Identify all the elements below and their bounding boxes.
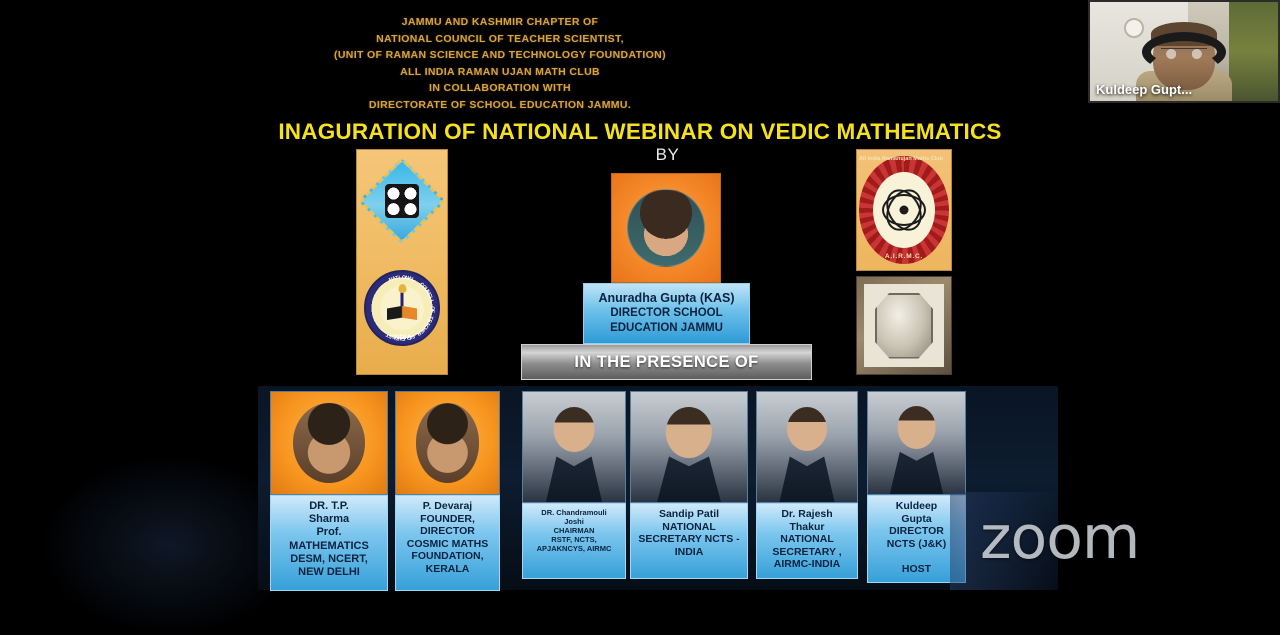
panelist-caption-line: DR. Chandramouli: [526, 508, 622, 517]
panelist-card-tp-sharma: DR. T.P.SharmaProf.MATHEMATICSDESM, NCER…: [270, 391, 388, 591]
chief-guest-photo: [611, 173, 721, 283]
panelist-card-rajesh-thakur: Dr. RajeshThakurNATIONALSECRETARY ,AIRMC…: [756, 391, 858, 579]
panelist-caption-sandip-patil: Sandip PatilNATIONALSECRETARY NCTS -INDI…: [630, 503, 748, 579]
panelist-portrait-p-devaraj: [416, 403, 480, 483]
panelist-caption-line: DR. T.P.: [274, 500, 384, 513]
panelist-caption-line: Thakur: [760, 521, 854, 534]
panelist-caption-line: DIRECTOR: [871, 525, 962, 538]
video-background-plant: [1229, 2, 1278, 101]
wall-clock-icon: [1124, 18, 1144, 38]
ncts-seal-icon: INDIA NATIONAL COUNCIL OF TEACHER SCIENT…: [364, 270, 440, 346]
panelist-caption-line: HOST: [871, 563, 962, 576]
panelist-caption-line: DIRECTOR: [399, 525, 496, 538]
header-line-1: JAMMU AND KASHMIR CHAPTER OF: [0, 14, 1000, 31]
panelist-caption-line: NATIONAL: [634, 521, 744, 534]
panelist-caption-line: NEW DELHI: [274, 566, 384, 579]
eyeglasses-icon: [1161, 48, 1207, 59]
panelist-caption-kuldeep-gupta: KuldeepGuptaDIRECTORNCTS (J&K) HOST: [867, 495, 966, 583]
panelist-caption-line: Kuldeep: [871, 500, 962, 513]
chief-guest-role-line-1: DIRECTOR SCHOOL: [590, 306, 743, 321]
seal-ring-text: NATIONAL COUNCIL OF TEACHER SCIENTIST: [366, 272, 438, 344]
panelist-caption-line: Joshi: [526, 517, 622, 526]
panelist-caption-line: Prof.: [274, 526, 384, 539]
participant-video-tile[interactable]: Kuldeep Gupt...: [1088, 0, 1280, 103]
panelist-caption-line: SECRETARY ,: [760, 546, 854, 559]
panelist-caption-line: P. Devaraj: [399, 500, 496, 513]
header-line-6: DIRECTORATE OF SCHOOL EDUCATION JAMMU.: [0, 97, 1000, 114]
panelist-photo-rajesh-thakur: [756, 391, 858, 503]
panelist-caption-line: FOUNDER,: [399, 513, 496, 526]
panelist-caption-rajesh-thakur: Dr. RajeshThakurNATIONALSECRETARY ,AIRMC…: [756, 503, 858, 579]
by-label: BY: [0, 145, 1280, 165]
panelist-caption-line: INDIA: [634, 546, 744, 559]
page-title: INAGURATION OF NATIONAL WEBINAR ON VEDIC…: [0, 119, 1280, 145]
panelist-photo-tp-sharma: [270, 391, 388, 495]
plaque-mat: [864, 284, 944, 367]
panelist-caption-line: DESM, NCERT,: [274, 553, 384, 566]
panelist-caption-line: Sharma: [274, 513, 384, 526]
organization-header: JAMMU AND KASHMIR CHAPTER OF NATIONAL CO…: [0, 14, 1000, 113]
panelist-caption-chandramouli-joshi: DR. ChandramouliJoshiCHAIRMANRSTF, NCTS,…: [522, 503, 626, 579]
chief-guest-role-line-2: EDUCATION JAMMU: [590, 321, 743, 336]
panelist-caption-line: Gupta: [871, 513, 962, 526]
header-line-4: ALL INDIA RAMAN UJAN MATH CLUB: [0, 64, 1000, 81]
screen-share-stage: JAMMU AND KASHMIR CHAPTER OF NATIONAL CO…: [0, 0, 1280, 590]
national-council-of-teacher-scientist-logo: INDIA NATIONAL COUNCIL OF TEACHER SCIENT…: [356, 149, 448, 375]
panelist-card-p-devaraj: P. DevarajFOUNDER,DIRECTORCOSMIC MATHSFO…: [395, 391, 500, 591]
participant-name-label: Kuldeep Gupt...: [1096, 82, 1192, 97]
panelist-photo-p-devaraj: [395, 391, 500, 495]
presence-banner-label: IN THE PRESENCE OF: [574, 353, 758, 372]
panelist-caption-line: SECRETARY NCTS -: [634, 533, 744, 546]
panelist-photo-kuldeep-gupta: [867, 391, 966, 495]
panelist-caption-line: [871, 550, 962, 563]
panelist-caption-line: AIRMC-INDIA: [760, 558, 854, 571]
panelist-caption-line: KERALA: [399, 563, 496, 576]
diamond-emblem-icon: [358, 157, 446, 245]
all-india-ramanujan-maths-club-logo: A.I.R.M.C. All India Ramanujan Maths Clu…: [856, 149, 952, 271]
airmc-ring-text: All India Ramanujan Maths Club: [859, 156, 949, 264]
panelist-caption-tp-sharma: DR. T.P.SharmaProf.MATHEMATICSDESM, NCER…: [270, 495, 388, 591]
seal-ring-text: All India Ramanujan Maths Club: [859, 156, 949, 162]
panelist-photo-chandramouli-joshi: [522, 391, 626, 503]
header-line-5: IN COLLABORATION WITH: [0, 80, 1000, 97]
header-line-3: (UNIT OF RAMAN SCIENCE AND TECHNOLOGY FO…: [0, 47, 1000, 64]
panelist-caption-line: Sandip Patil: [634, 508, 744, 521]
airmc-seal-icon: A.I.R.M.C. All India Ramanujan Maths Clu…: [859, 156, 949, 264]
panelist-card-kuldeep-gupta: KuldeepGuptaDIRECTORNCTS (J&K) HOST: [867, 391, 966, 583]
panelist-caption-line: APJAKNCYS, AIRMC: [526, 544, 622, 553]
framed-award-plaque: [856, 276, 952, 375]
header-line-2: NATIONAL COUNCIL OF TEACHER SCIENTIST,: [0, 31, 1000, 48]
panelist-portrait-tp-sharma: [293, 403, 365, 483]
zoom-watermark: zoom: [980, 503, 1139, 573]
panelist-caption-line: RSTF, NCTS,: [526, 535, 622, 544]
panelist-card-chandramouli-joshi: DR. ChandramouliJoshiCHAIRMANRSTF, NCTS,…: [522, 391, 626, 579]
panelist-caption-line: NATIONAL: [760, 533, 854, 546]
panelist-caption-line: MATHEMATICS: [274, 540, 384, 553]
panelist-caption-line: Dr. Rajesh: [760, 508, 854, 521]
panelist-caption-line: COSMIC MATHS: [399, 538, 496, 551]
panelist-caption-p-devaraj: P. DevarajFOUNDER,DIRECTORCOSMIC MATHSFO…: [395, 495, 500, 591]
panelist-photo-sandip-patil: [630, 391, 748, 503]
chief-guest-caption: Anuradha Gupta (KAS) DIRECTOR SCHOOL EDU…: [583, 283, 750, 344]
panelist-card-sandip-patil: Sandip PatilNATIONALSECRETARY NCTS -INDI…: [630, 391, 748, 579]
panelist-caption-line: NCTS (J&K): [871, 538, 962, 551]
plaque-medal-icon: [875, 293, 933, 359]
chief-guest-portrait: [627, 189, 705, 267]
in-the-presence-of-banner: IN THE PRESENCE OF: [521, 344, 812, 380]
chief-guest-name: Anuradha Gupta (KAS): [590, 290, 743, 306]
panelist-caption-line: CHAIRMAN: [526, 526, 622, 535]
panelist-caption-line: FOUNDATION,: [399, 550, 496, 563]
